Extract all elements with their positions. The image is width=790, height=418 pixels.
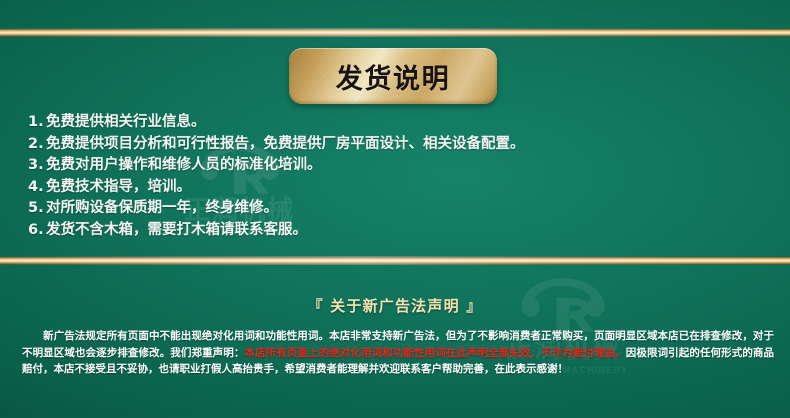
list-item-text: 发货不含木箱，需要打木箱请联系客服。 [46, 222, 307, 238]
list-item-text: 免费提供相关行业信息。 [46, 114, 206, 130]
list-item-number: 4. [28, 177, 46, 199]
gold-divider-bottom [0, 256, 790, 265]
list-item-text: 对所购设备保质期一年，终身维修。 [46, 200, 278, 216]
list-item: 4.免费技术指导，培训。 [28, 177, 780, 199]
declaration-highlight: 本店所有页面上的绝对化用词和功能性用词在此声明全部失效，不作为赔付理由。 [244, 347, 625, 359]
list-item-number: 5. [28, 198, 46, 220]
declaration-line-1: 新广告法规定所有页面中不能出现绝对化用词和功能性用词。 [43, 330, 329, 342]
gold-divider-top [0, 28, 790, 37]
list-item-text: 免费提供项目分析和可行性报告，免费提供厂房平面设计、相关设备配置。 [46, 136, 525, 152]
declaration-body: 新广告法规定所有页面中不能出现绝对化用词和功能性用词。本店非常支持新广告法，但为… [22, 328, 774, 378]
service-commitment-list: 1.免费提供相关行业信息。 2.免费提供项目分析和可行性报告，免费提供厂房平面设… [28, 112, 780, 241]
list-item: 2.免费提供项目分析和可行性报告，免费提供厂房平面设计、相关设备配置。 [28, 134, 780, 156]
list-item-number: 2. [28, 134, 46, 156]
section-title-badge: 发货说明 [289, 48, 497, 104]
list-item-number: 1. [28, 112, 46, 134]
page-title: 发货说明 [336, 57, 450, 96]
declaration-heading: 『 关于新广告法声明 』 [0, 295, 790, 316]
list-item: 1.免费提供相关行业信息。 [28, 112, 780, 134]
list-item: 3.免费对用户操作和维修人员的标准化培训。 [28, 155, 780, 177]
list-item: 5.对所购设备保质期一年，终身维修。 [28, 198, 780, 220]
list-item-number: 6. [28, 220, 46, 242]
list-item: 6.发货不含木箱，需要打木箱请联系客服。 [28, 220, 780, 242]
list-item-text: 免费技术指导，培训。 [46, 179, 191, 195]
list-item-text: 免费对用户操作和维修人员的标准化培训。 [46, 157, 322, 173]
list-item-number: 3. [28, 155, 46, 177]
shipping-instructions-poster: 正润机械 ZHENGRUN MACHINERY 正润机械 ZHENGRUN MA… [0, 0, 790, 418]
